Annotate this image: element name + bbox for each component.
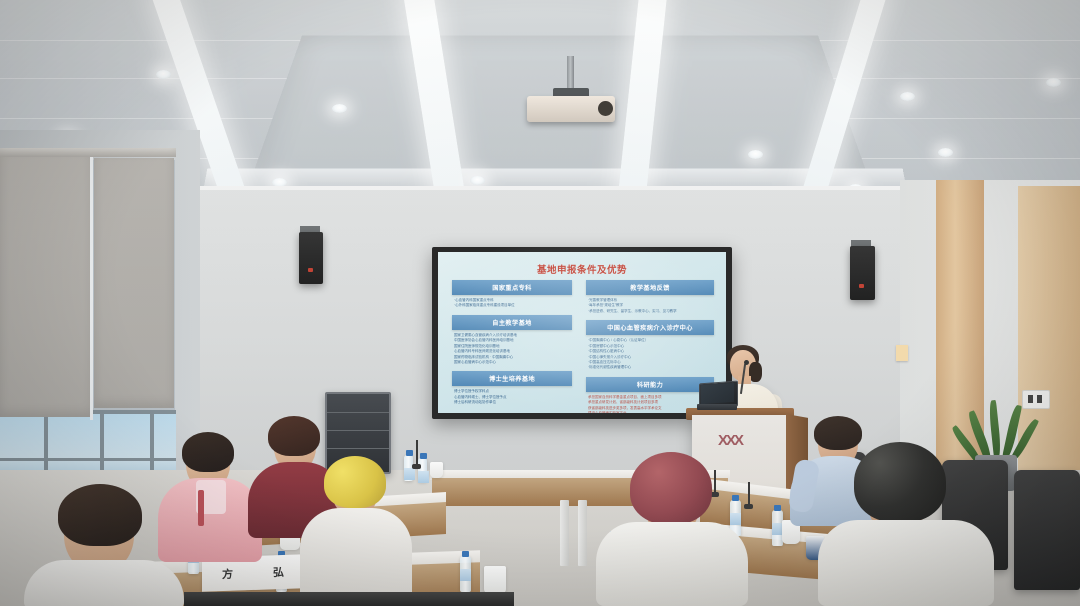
surgical-cap bbox=[324, 456, 386, 508]
speaker-brand-icon bbox=[308, 268, 313, 272]
slide-section-header: 教学基地反馈 bbox=[586, 280, 714, 295]
attendee-hair bbox=[268, 416, 320, 456]
speaker-brand-icon bbox=[859, 284, 864, 288]
downlight bbox=[748, 150, 763, 159]
sticky-note bbox=[896, 345, 908, 361]
attendee-hair bbox=[58, 484, 142, 546]
wall-speaker-left bbox=[299, 232, 323, 284]
slide-section-header: 中国心血管疾病介入诊疗中心 bbox=[586, 320, 714, 335]
attendee-torso bbox=[818, 520, 994, 606]
roller-blind[interactable] bbox=[94, 158, 174, 408]
slide-section-body: 博士学位授予权学科点 心血管内科硕士、博士学位授予点 博士后科研流动站协作单位 bbox=[452, 389, 572, 405]
desk-microphone[interactable] bbox=[748, 482, 750, 506]
blind-headrail bbox=[0, 148, 176, 157]
attendee-torso bbox=[596, 522, 748, 606]
water-bottle[interactable] bbox=[460, 556, 471, 592]
placard-text-left: 方 bbox=[222, 566, 233, 582]
presenter-laptop-base bbox=[697, 404, 737, 410]
downlight bbox=[938, 148, 953, 157]
attendee-torso bbox=[24, 560, 184, 606]
table-leg bbox=[560, 500, 569, 566]
downlight bbox=[1046, 78, 1061, 87]
microphone-head-icon bbox=[744, 360, 749, 365]
paper-cup[interactable] bbox=[430, 462, 443, 478]
placard-text-right: 弘 bbox=[273, 564, 284, 580]
blind-chain[interactable] bbox=[90, 150, 93, 420]
attendee-hair bbox=[182, 432, 234, 472]
table-leg bbox=[578, 500, 587, 566]
desk-microphone-base bbox=[412, 464, 421, 469]
downlight bbox=[900, 92, 915, 101]
attendee-lanyard bbox=[198, 490, 204, 526]
slide-section-body: ·完善教学管理体系 ·每年承担“规培生”教学 ·承担进修、研究生、留学生、示教中… bbox=[586, 298, 714, 314]
surgical-cap bbox=[630, 452, 712, 524]
slide-section-header: 国家重点专科 bbox=[452, 280, 572, 295]
slide-section-header: 自主教学基地 bbox=[452, 315, 572, 330]
attendee-hair bbox=[814, 416, 862, 450]
light-switch-panel[interactable] bbox=[1022, 390, 1050, 409]
lectern-logo: XXX bbox=[706, 430, 754, 452]
desk-microphone-base bbox=[744, 504, 753, 509]
slide-title: 基地申报条件及优势 bbox=[438, 262, 726, 276]
projection-screen: 基地申报条件及优势 国家重点专科 ·心血管内科国家重点专科 ·心外科国家临床重点… bbox=[438, 252, 726, 413]
office-chair[interactable] bbox=[1014, 470, 1080, 590]
downlight bbox=[156, 70, 171, 79]
slide-right-column: 教学基地反馈 ·完善教学管理体系 ·每年承担“规培生”教学 ·承担进修、研究生、… bbox=[586, 280, 714, 413]
surgical-cap bbox=[854, 442, 946, 522]
slide-section-body: ·心血管内科国家重点专科 ·心外科国家临床重点专科建设项目单位 bbox=[452, 298, 572, 309]
projector-mount-rod bbox=[567, 56, 574, 92]
desk-microphone[interactable] bbox=[714, 470, 716, 494]
wall-trim bbox=[150, 186, 950, 190]
projector-lens-icon bbox=[598, 101, 613, 116]
slide-section-header: 科研能力 bbox=[586, 377, 714, 392]
wall-speaker-right bbox=[850, 246, 875, 300]
conference-room-scene: 基地申报条件及优势 国家重点专科 ·心血管内科国家重点专科 ·心外科国家临床重点… bbox=[0, 0, 1080, 606]
water-bottle[interactable] bbox=[418, 458, 427, 482]
paper-cup[interactable] bbox=[484, 566, 506, 594]
desk-microphone[interactable] bbox=[416, 440, 418, 466]
slide-section-body: 国家卫健委心血管疾病介入诊疗培训基地 中国医师协会心血管内科医师培训基地 国家住… bbox=[452, 333, 572, 366]
slide-section-header: 博士生培养基地 bbox=[452, 371, 572, 386]
foreground-table-edge bbox=[184, 592, 514, 606]
downlight bbox=[332, 104, 347, 113]
window-mullion bbox=[0, 458, 176, 461]
downlight bbox=[470, 176, 485, 185]
roller-blind[interactable] bbox=[0, 155, 92, 417]
presenter-laptop-screen bbox=[701, 383, 734, 404]
slide-left-column: 国家重点专科 ·心血管内科国家重点专科 ·心外科国家临床重点专科建设项目单位 自… bbox=[452, 280, 572, 412]
slide-section-body: ·中国胸痛中心 / 心衰中心（认证单位） ·中国房颤中心示范中心 ·中国结构性心… bbox=[586, 338, 714, 371]
